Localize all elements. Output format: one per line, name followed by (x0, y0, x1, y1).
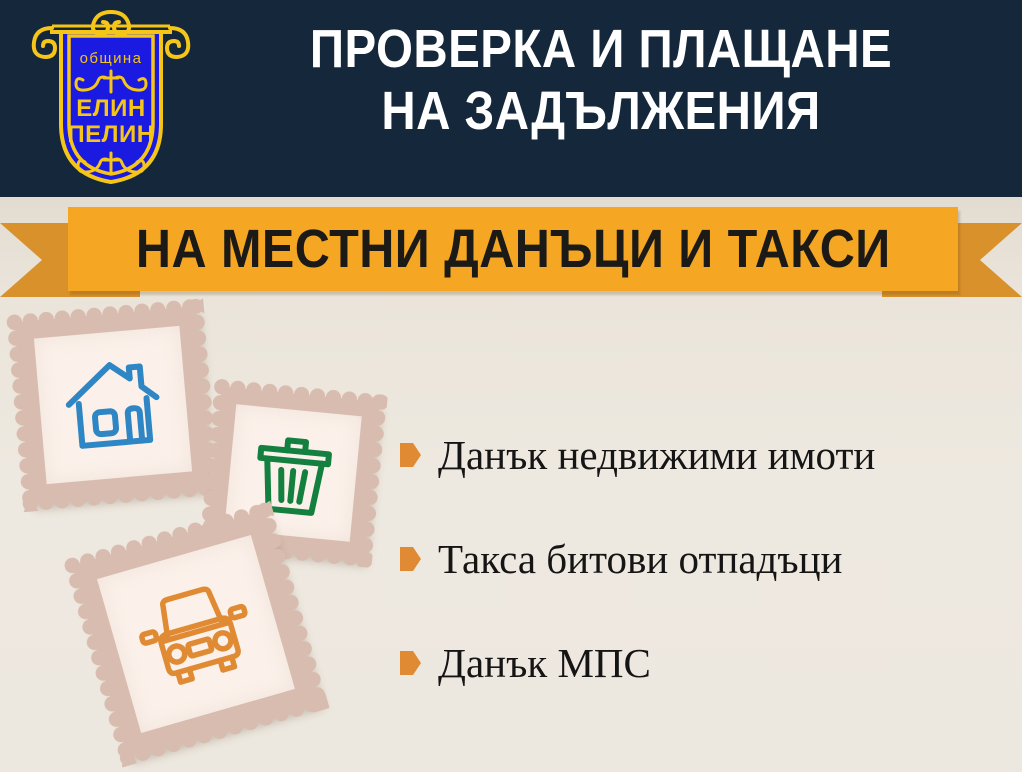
bullet-arrow-icon (400, 547, 421, 571)
list-item-label: Данък недвижими имоти (438, 431, 875, 479)
svg-text:ПЕЛИН: ПЕЛИН (67, 121, 154, 148)
stamp-house (14, 306, 211, 503)
tax-type-list: Данък недвижими имоти Такса битови отпад… (400, 424, 1010, 694)
stamp-car-paper (97, 535, 295, 733)
page-title: ПРОВЕРКА И ПЛАЩАНЕ НА ЗАДЪЛЖЕНИЯ (245, 18, 958, 142)
poster-canvas: община ЕЛИН ПЕЛИН ПРОВЕРКА И ПЛАЩАНЕ НА … (0, 0, 1022, 772)
municipality-crest-icon: община ЕЛИН ПЕЛИН (28, 6, 194, 188)
subtitle-ribbon: НА МЕСТНИ ДАНЪЦИ И ТАКСИ (0, 199, 1022, 304)
page-title-line-2: НА ЗАДЪЛЖЕНИЯ (245, 80, 958, 142)
bullet-arrow-icon (400, 443, 421, 467)
page-title-line-1: ПРОВЕРКА И ПЛАЩАНЕ (245, 18, 958, 80)
list-item[interactable]: Данък МПС (400, 632, 1010, 694)
list-item-label: Такса битови отпадъци (438, 535, 842, 583)
ribbon-face: НА МЕСТНИ ДАНЪЦИ И ТАКСИ (68, 207, 958, 291)
bullet-arrow-icon (400, 651, 421, 675)
ribbon-label: НА МЕСТНИ ДАНЪЦИ И ТАКСИ (136, 218, 891, 280)
stamp-collage (0, 300, 420, 772)
car-front-icon (126, 568, 266, 700)
house-icon (57, 349, 170, 462)
list-item[interactable]: Такса битови отпадъци (400, 528, 1010, 590)
stamp-car (72, 510, 319, 757)
list-item-label: Данък МПС (438, 639, 651, 687)
svg-text:община: община (80, 50, 143, 67)
list-item[interactable]: Данък недвижими имоти (400, 424, 1010, 486)
svg-text:ЕЛИН: ЕЛИН (76, 95, 145, 122)
stamp-house-paper (34, 326, 192, 484)
